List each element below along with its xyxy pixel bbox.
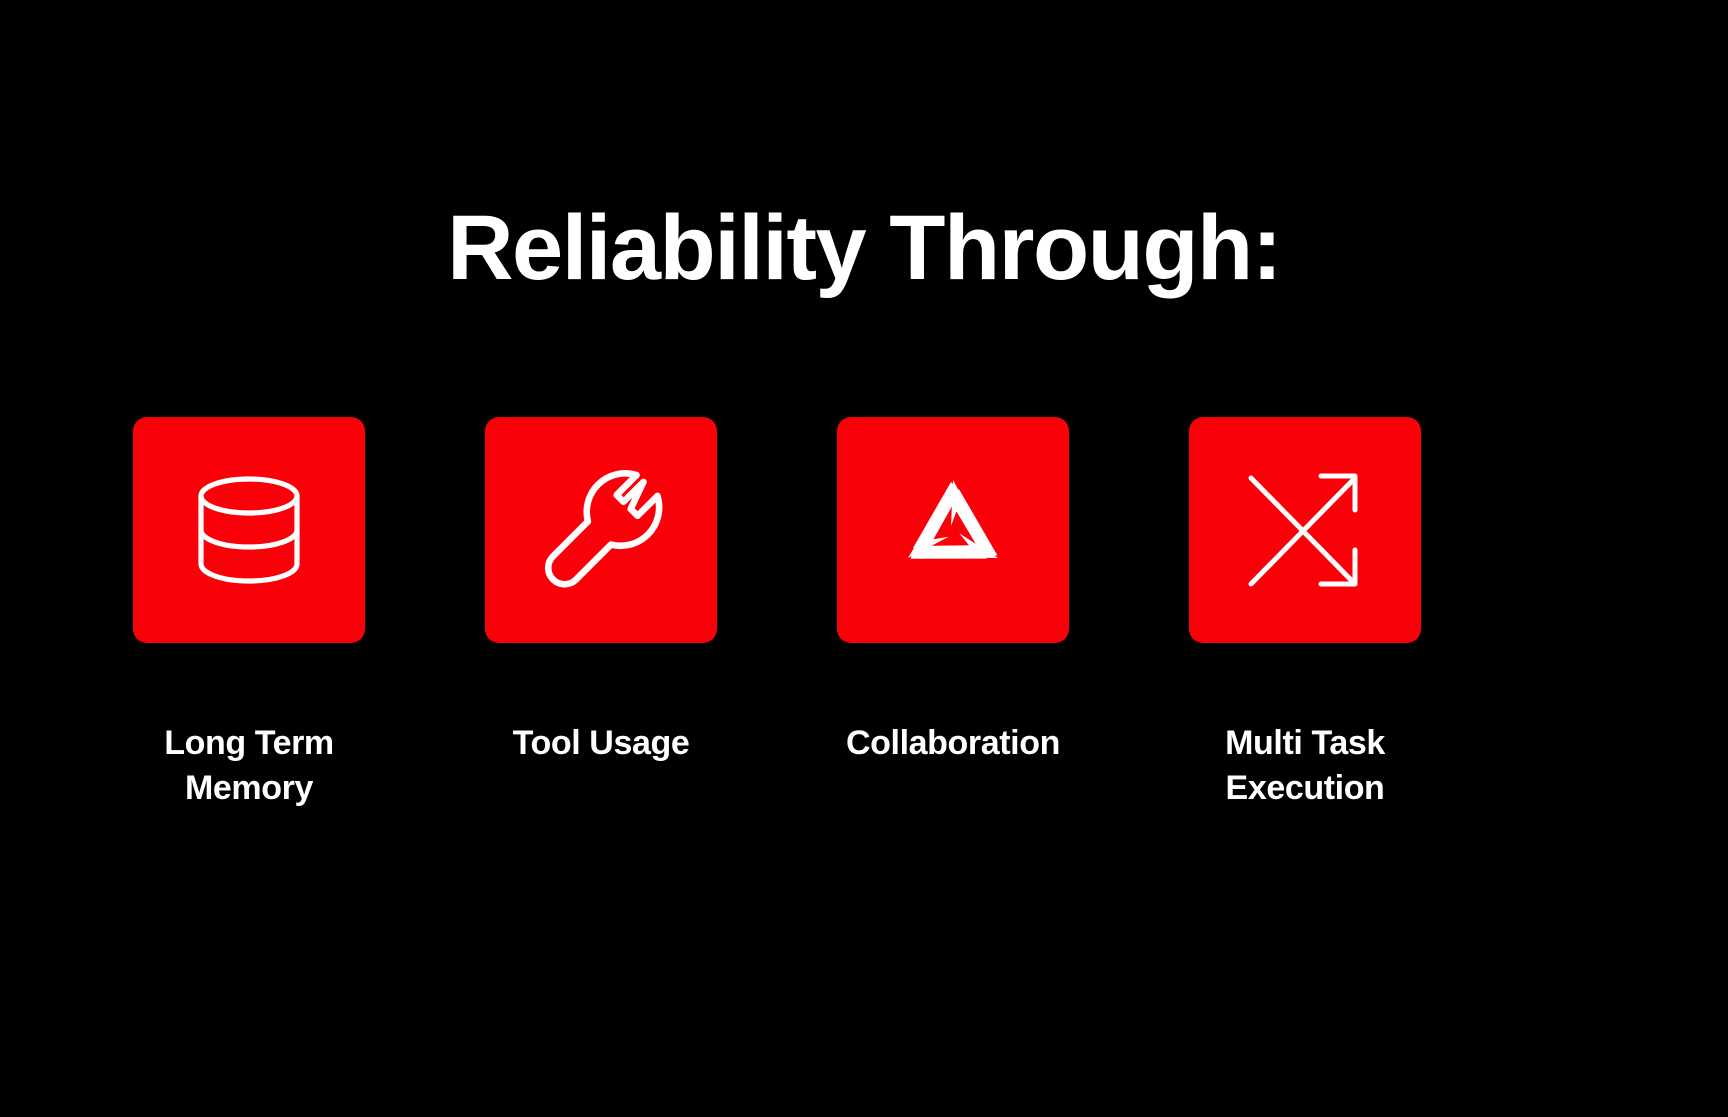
cycle-arrows-icon — [890, 472, 1016, 588]
feature-card-label: Tool Usage — [513, 721, 690, 766]
feature-card-long-term-memory[interactable]: Long Term Memory — [133, 417, 365, 811]
icon-tile-long-term-memory[interactable] — [133, 417, 365, 643]
slide-root: Reliability Through: Long Term Memory — [0, 0, 1728, 1117]
feature-card-collaboration[interactable]: Collaboration — [837, 417, 1069, 766]
wrench-icon — [537, 466, 665, 594]
icon-tile-multi-task-execution[interactable] — [1189, 417, 1421, 643]
crossing-arrows-icon — [1243, 468, 1367, 592]
page-title: Reliability Through: — [0, 196, 1728, 300]
feature-card-multi-task-execution[interactable]: Multi Task Execution — [1189, 417, 1421, 811]
icon-tile-tool-usage[interactable] — [485, 417, 717, 643]
feature-card-row: Long Term Memory Tool Usage — [133, 417, 1421, 887]
database-icon — [187, 468, 311, 592]
feature-card-label: Long Term Memory — [164, 721, 334, 811]
feature-card-label: Collaboration — [846, 721, 1060, 766]
feature-card-tool-usage[interactable]: Tool Usage — [485, 417, 717, 766]
feature-card-label: Multi Task Execution — [1225, 721, 1385, 811]
icon-tile-collaboration[interactable] — [837, 417, 1069, 643]
